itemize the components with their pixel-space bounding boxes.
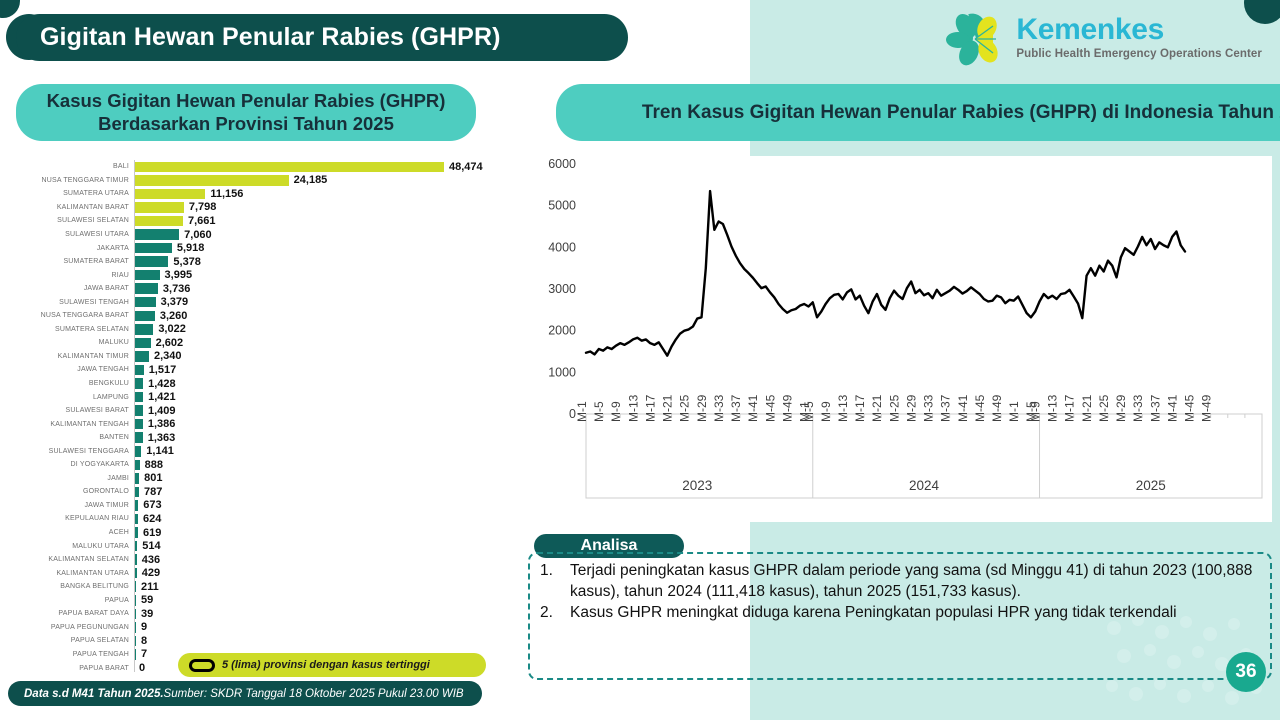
bar-value-label: 436 bbox=[142, 554, 160, 566]
x-axis-tick-label: M-29 bbox=[1114, 394, 1128, 422]
bar-category-label: PAPUA TENGAH bbox=[16, 651, 134, 658]
x-axis-tick-label: M-5 bbox=[802, 401, 816, 422]
bar-row: SULAWESI TENGAH3,379 bbox=[16, 295, 516, 309]
bar-value-label: 5,918 bbox=[177, 242, 205, 254]
bar-fill bbox=[134, 324, 153, 335]
bar-track: 514 bbox=[134, 539, 516, 553]
analysis-list: 1.Terjadi peningkatan kasus GHPR dalam p… bbox=[540, 561, 1256, 624]
bar-value-label: 11,156 bbox=[210, 188, 243, 200]
x-axis-tick-label: M-13 bbox=[1046, 394, 1060, 422]
bar-fill bbox=[134, 270, 160, 281]
bar-fill bbox=[134, 202, 184, 213]
analysis-box: 1.Terjadi peningkatan kasus GHPR dalam p… bbox=[528, 552, 1272, 680]
trend-line-chart: 0100020003000400050006000M-1M-5M-9M-13M-… bbox=[528, 156, 1272, 522]
bar-fill bbox=[134, 243, 172, 254]
x-axis-tick-label: M-45 bbox=[973, 394, 987, 422]
x-axis-tick-label: M-17 bbox=[1063, 394, 1077, 422]
bar-category-label: SULAWESI UTARA bbox=[16, 231, 134, 238]
bar-category-label: RIAU bbox=[16, 272, 134, 279]
bar-value-label: 1,386 bbox=[148, 418, 176, 430]
bar-category-label: PAPUA BARAT DAYA bbox=[16, 610, 134, 617]
bar-track: 5,378 bbox=[134, 255, 516, 269]
bar-row: SUMATERA SELATAN3,022 bbox=[16, 323, 516, 337]
bar-value-label: 1,428 bbox=[148, 378, 176, 390]
bar-fill bbox=[134, 365, 144, 376]
footer-data-period: Data s.d M41 Tahun 2025. bbox=[24, 688, 164, 700]
bar-value-label: 3,379 bbox=[161, 296, 189, 308]
bar-row: SULAWESI BARAT1,409 bbox=[16, 404, 516, 418]
bar-row: SULAWESI TENGGARA1,141 bbox=[16, 444, 516, 458]
trend-chart-svg: 0100020003000400050006000M-1M-5M-9M-13M-… bbox=[528, 156, 1272, 522]
bar-track: 1,386 bbox=[134, 417, 516, 431]
analysis-item-number: 2. bbox=[540, 603, 570, 624]
bar-track: 3,022 bbox=[134, 323, 516, 337]
bar-fill bbox=[134, 175, 289, 186]
bar-value-label: 3,995 bbox=[165, 269, 193, 281]
bar-value-label: 1,141 bbox=[146, 445, 174, 457]
bar-category-label: NUSA TENGGARA BARAT bbox=[16, 312, 134, 319]
bar-fill bbox=[134, 338, 151, 349]
x-axis-tick-label: M-45 bbox=[1183, 394, 1197, 422]
bar-row: NUSA TENGGARA BARAT3,260 bbox=[16, 309, 516, 323]
bar-category-label: BANTEN bbox=[16, 434, 134, 441]
bar-value-label: 673 bbox=[143, 499, 161, 511]
bar-track: 5,918 bbox=[134, 241, 516, 255]
bar-value-label: 211 bbox=[141, 581, 159, 593]
bar-track: 787 bbox=[134, 485, 516, 499]
bar-row: DI YOGYAKARTA888 bbox=[16, 458, 516, 472]
x-axis-tick-label: M-49 bbox=[1200, 394, 1214, 422]
bar-row: BANTEN1,363 bbox=[16, 431, 516, 445]
bar-row: GORONTALO787 bbox=[16, 485, 516, 499]
logo-subtitle: Public Health Emergency Operations Cente… bbox=[1016, 49, 1262, 61]
bar-row: MALUKU2,602 bbox=[16, 336, 516, 350]
bar-track: 8 bbox=[134, 634, 516, 648]
legend-swatch-icon bbox=[189, 659, 215, 672]
bar-value-label: 1,421 bbox=[148, 391, 176, 403]
bar-value-label: 429 bbox=[142, 567, 160, 579]
bar-track: 624 bbox=[134, 512, 516, 526]
bar-row: PAPUA PEGUNUNGAN9 bbox=[16, 621, 516, 635]
bar-row: RIAU3,995 bbox=[16, 268, 516, 282]
bar-track: 11,156 bbox=[134, 187, 516, 201]
x-axis-group-label: 2024 bbox=[909, 478, 940, 493]
bar-value-label: 801 bbox=[144, 472, 162, 484]
x-axis-tick-label: M-45 bbox=[763, 394, 777, 422]
x-axis-tick-label: M-21 bbox=[870, 394, 884, 422]
bar-category-label: PAPUA BARAT bbox=[16, 665, 134, 672]
y-axis-tick-label: 6000 bbox=[548, 157, 576, 171]
bar-row: JAWA TENGAH1,517 bbox=[16, 363, 516, 377]
bar-value-label: 3,022 bbox=[158, 323, 186, 335]
y-axis-tick-label: 4000 bbox=[548, 240, 576, 254]
bar-value-label: 7,798 bbox=[189, 201, 217, 213]
bar-value-label: 7 bbox=[141, 648, 147, 660]
bar-track: 1,421 bbox=[134, 390, 516, 404]
bar-category-label: SUMATERA BARAT bbox=[16, 258, 134, 265]
x-axis-tick-label: M-41 bbox=[746, 394, 760, 422]
x-axis-tick-label: M-41 bbox=[956, 394, 970, 422]
x-axis-tick-label: M-5 bbox=[592, 401, 606, 422]
bar-row: BENGKULU1,428 bbox=[16, 377, 516, 391]
source-footer: Data s.d M41 Tahun 2025. Sumber: SKDR Ta… bbox=[8, 681, 482, 706]
bar-track: 9 bbox=[134, 621, 516, 635]
bar-row: LAMPUNG1,421 bbox=[16, 390, 516, 404]
bar-category-label: SULAWESI BARAT bbox=[16, 407, 134, 414]
bar-row: SUMATERA BARAT5,378 bbox=[16, 255, 516, 269]
bar-value-label: 5,378 bbox=[173, 256, 201, 268]
bar-value-label: 514 bbox=[142, 540, 160, 552]
bar-category-label: BENGKULU bbox=[16, 380, 134, 387]
x-axis-tick-label: M-9 bbox=[1029, 401, 1043, 422]
bar-track: 1,428 bbox=[134, 377, 516, 391]
bar-category-label: JAWA BARAT bbox=[16, 285, 134, 292]
bar-value-label: 39 bbox=[141, 608, 153, 620]
bar-value-label: 9 bbox=[141, 621, 147, 633]
bar-fill bbox=[134, 229, 179, 240]
bar-row: BALI48,474 bbox=[16, 160, 516, 174]
bar-value-label: 2,340 bbox=[154, 350, 182, 362]
bar-value-label: 619 bbox=[143, 527, 161, 539]
page-title: Gigitan Hewan Penular Rabies (GHPR) bbox=[16, 14, 628, 61]
bar-fill bbox=[134, 297, 156, 308]
bar-track: 429 bbox=[134, 566, 516, 580]
x-axis-tick-label: M-37 bbox=[1148, 394, 1162, 422]
right-chart-title: Tren Kasus Gigitan Hewan Penular Rabies … bbox=[556, 84, 1280, 141]
bar-track: 7,661 bbox=[134, 214, 516, 228]
bar-category-label: LAMPUNG bbox=[16, 394, 134, 401]
bar-row: KALIMANTAN TENGAH1,386 bbox=[16, 417, 516, 431]
bar-value-label: 1,363 bbox=[148, 432, 176, 444]
analysis-item: 2.Kasus GHPR meningkat diduga karena Pen… bbox=[540, 603, 1256, 624]
bar-row: SULAWESI SELATAN7,661 bbox=[16, 214, 516, 228]
bar-track: 3,379 bbox=[134, 295, 516, 309]
page-number-badge: 36 bbox=[1226, 652, 1266, 692]
bar-category-label: JAWA TIMUR bbox=[16, 502, 134, 509]
bar-category-label: SULAWESI TENGGARA bbox=[16, 448, 134, 455]
bar-category-label: MALUKU UTARA bbox=[16, 543, 134, 550]
legend-note-label: 5 (lima) provinsi dengan kasus tertinggi bbox=[222, 659, 430, 671]
bar-category-label: SUMATERA SELATAN bbox=[16, 326, 134, 333]
bar-category-label: KALIMANTAN TENGAH bbox=[16, 421, 134, 428]
bar-category-label: SULAWESI TENGAH bbox=[16, 299, 134, 306]
bar-fill bbox=[134, 405, 143, 416]
x-axis-tick-label: M-25 bbox=[678, 394, 692, 422]
bar-fill bbox=[134, 419, 143, 430]
bar-value-label: 7,060 bbox=[184, 229, 212, 241]
x-axis-tick-label: M-25 bbox=[887, 394, 901, 422]
x-axis-tick-label: M-17 bbox=[853, 394, 867, 422]
bar-row: SUMATERA UTARA11,156 bbox=[16, 187, 516, 201]
bar-category-label: PAPUA bbox=[16, 597, 134, 604]
bar-track: 2,602 bbox=[134, 336, 516, 350]
bar-category-label: KEPULAUAN RIAU bbox=[16, 515, 134, 522]
bar-category-label: BALI bbox=[16, 163, 134, 170]
bar-row: MALUKU UTARA514 bbox=[16, 539, 516, 553]
bar-fill bbox=[134, 378, 143, 389]
bar-row: JAWA BARAT3,736 bbox=[16, 282, 516, 296]
bar-row: KEPULAUAN RIAU624 bbox=[16, 512, 516, 526]
decorative-circle-top-left-1 bbox=[0, 0, 20, 18]
bar-value-label: 787 bbox=[144, 486, 162, 498]
x-axis-group-label: 2023 bbox=[682, 478, 712, 493]
bar-category-label: JAKARTA bbox=[16, 245, 134, 252]
x-axis-tick-label: M-9 bbox=[609, 401, 623, 422]
y-axis-tick-label: 2000 bbox=[548, 324, 576, 338]
bar-fill bbox=[134, 189, 205, 200]
bar-row: PAPUA BARAT DAYA39 bbox=[16, 607, 516, 621]
x-axis-tick-label: M-21 bbox=[1080, 394, 1094, 422]
left-chart-title: Kasus Gigitan Hewan Penular Rabies (GHPR… bbox=[16, 84, 476, 141]
footer-source: Sumber: SKDR Tanggal 18 Oktober 2025 Puk… bbox=[164, 688, 464, 700]
bar-category-label: ACEH bbox=[16, 529, 134, 536]
x-axis-tick-label: M-13 bbox=[836, 394, 850, 422]
bar-track: 888 bbox=[134, 458, 516, 472]
bar-category-label: JAWA TENGAH bbox=[16, 366, 134, 373]
bar-value-label: 59 bbox=[141, 594, 153, 606]
x-axis-tick-label: M-9 bbox=[819, 401, 833, 422]
bar-row: KALIMANTAN SELATAN436 bbox=[16, 553, 516, 567]
x-axis-tick-label: M-1 bbox=[1007, 401, 1021, 422]
bar-track: 7,060 bbox=[134, 228, 516, 242]
bar-category-label: BANGKA BELITUNG bbox=[16, 583, 134, 590]
bar-track: 59 bbox=[134, 594, 516, 608]
bar-fill bbox=[134, 256, 168, 267]
bar-row: JAMBI801 bbox=[16, 472, 516, 486]
bar-row: PAPUA59 bbox=[16, 594, 516, 608]
x-axis-group-label: 2025 bbox=[1136, 478, 1166, 493]
bar-category-label: MALUKU bbox=[16, 339, 134, 346]
bar-row: SULAWESI UTARA7,060 bbox=[16, 228, 516, 242]
x-axis-tick-label: M-1 bbox=[575, 401, 589, 422]
x-axis-tick-label: M-17 bbox=[643, 394, 657, 422]
x-axis-tick-label: M-13 bbox=[626, 394, 640, 422]
bar-fill bbox=[134, 216, 183, 227]
bar-track: 3,260 bbox=[134, 309, 516, 323]
bar-track: 48,474 bbox=[134, 160, 516, 174]
bar-value-label: 48,474 bbox=[449, 161, 483, 173]
bar-value-label: 3,260 bbox=[160, 310, 188, 322]
bar-fill bbox=[134, 311, 155, 322]
bar-fill bbox=[134, 283, 158, 294]
analysis-item-text: Terjadi peningkatan kasus GHPR dalam per… bbox=[570, 561, 1256, 602]
bar-row: JAWA TIMUR673 bbox=[16, 499, 516, 513]
bar-value-label: 7,661 bbox=[188, 215, 216, 227]
x-axis-tick-label: M-29 bbox=[904, 394, 918, 422]
bar-value-label: 8 bbox=[141, 635, 147, 647]
bar-track: 1,409 bbox=[134, 404, 516, 418]
bar-value-label: 1,409 bbox=[148, 405, 176, 417]
bar-row: KALIMANTAN BARAT7,798 bbox=[16, 201, 516, 215]
bar-track: 1,363 bbox=[134, 431, 516, 445]
bar-category-label: KALIMANTAN UTARA bbox=[16, 570, 134, 577]
bar-fill bbox=[134, 446, 141, 457]
bar-category-label: NUSA TENGGARA TIMUR bbox=[16, 177, 134, 184]
bar-track: 2,340 bbox=[134, 350, 516, 364]
bar-track: 39 bbox=[134, 607, 516, 621]
bar-track: 3,736 bbox=[134, 282, 516, 296]
bar-row: KALIMANTAN TIMUR2,340 bbox=[16, 350, 516, 364]
bar-fill bbox=[134, 432, 143, 443]
bar-track: 1,141 bbox=[134, 444, 516, 458]
bar-track: 673 bbox=[134, 499, 516, 513]
y-axis-tick-label: 3000 bbox=[548, 282, 576, 296]
y-axis-tick-label: 5000 bbox=[548, 199, 576, 213]
bar-row: ACEH619 bbox=[16, 526, 516, 540]
analysis-item-number: 1. bbox=[540, 561, 570, 602]
logo-wordmark: Kemenkes bbox=[1016, 15, 1262, 45]
kemenkes-clover-logo-icon bbox=[946, 9, 1006, 67]
bar-row: NUSA TENGGARA TIMUR24,185 bbox=[16, 174, 516, 188]
bar-category-label: GORONTALO bbox=[16, 488, 134, 495]
bar-value-label: 2,602 bbox=[156, 337, 184, 349]
bar-category-label: JAMBI bbox=[16, 475, 134, 482]
bar-track: 211 bbox=[134, 580, 516, 594]
bar-category-label: KALIMANTAN BARAT bbox=[16, 204, 134, 211]
x-axis-tick-label: M-41 bbox=[1165, 394, 1179, 422]
bar-value-label: 0 bbox=[139, 662, 145, 674]
bar-fill bbox=[134, 162, 444, 173]
province-bar-chart: BALI48,474NUSA TENGGARA TIMUR24,185SUMAT… bbox=[16, 160, 516, 672]
bar-track: 801 bbox=[134, 472, 516, 486]
analysis-item-text: Kasus GHPR meningkat diduga karena Penin… bbox=[570, 603, 1256, 624]
x-axis-tick-label: M-49 bbox=[780, 394, 794, 422]
bar-value-label: 1,517 bbox=[149, 364, 177, 376]
bar-track: 7,798 bbox=[134, 201, 516, 215]
bar-chart-axis bbox=[134, 160, 135, 672]
x-axis-tick-label: M-33 bbox=[712, 394, 726, 422]
x-axis-tick-label: M-25 bbox=[1097, 394, 1111, 422]
x-axis-tick-label: M-37 bbox=[729, 394, 743, 422]
bar-value-label: 624 bbox=[143, 513, 161, 525]
bar-fill bbox=[134, 392, 143, 403]
x-axis-tick-label: M-33 bbox=[1131, 394, 1145, 422]
bar-row: PAPUA SELATAN8 bbox=[16, 634, 516, 648]
x-axis-tick-label: M-49 bbox=[990, 394, 1004, 422]
x-axis-tick-label: M-33 bbox=[922, 394, 936, 422]
bar-row: BANGKA BELITUNG211 bbox=[16, 580, 516, 594]
x-axis-tick-label: M-37 bbox=[939, 394, 953, 422]
bar-track: 619 bbox=[134, 526, 516, 540]
bar-value-label: 24,185 bbox=[294, 174, 328, 186]
bar-track: 436 bbox=[134, 553, 516, 567]
bar-category-label: SULAWESI SELATAN bbox=[16, 217, 134, 224]
bar-category-label: KALIMANTAN TIMUR bbox=[16, 353, 134, 360]
bar-fill bbox=[134, 351, 149, 362]
bar-category-label: DI YOGYAKARTA bbox=[16, 461, 134, 468]
trend-line-series bbox=[586, 191, 1185, 356]
bar-track: 24,185 bbox=[134, 174, 516, 188]
y-axis-tick-label: 1000 bbox=[548, 365, 576, 379]
x-axis-tick-label: M-29 bbox=[695, 394, 709, 422]
kemenkes-logo: Kemenkes Public Health Emergency Operati… bbox=[946, 6, 1262, 70]
x-axis-tick-label: M-21 bbox=[661, 394, 675, 422]
bar-row: JAKARTA5,918 bbox=[16, 241, 516, 255]
bar-track: 3,995 bbox=[134, 268, 516, 282]
analysis-item: 1.Terjadi peningkatan kasus GHPR dalam p… bbox=[540, 561, 1256, 602]
bar-value-label: 888 bbox=[145, 459, 163, 471]
bar-track: 1,517 bbox=[134, 363, 516, 377]
bar-chart-legend-note: 5 (lima) provinsi dengan kasus tertinggi bbox=[178, 653, 486, 677]
bar-category-label: PAPUA SELATAN bbox=[16, 637, 134, 644]
bar-row: KALIMANTAN UTARA429 bbox=[16, 566, 516, 580]
bar-value-label: 3,736 bbox=[163, 283, 191, 295]
bar-category-label: SUMATERA UTARA bbox=[16, 190, 134, 197]
bar-category-label: KALIMANTAN SELATAN bbox=[16, 556, 134, 563]
bar-category-label: PAPUA PEGUNUNGAN bbox=[16, 624, 134, 631]
